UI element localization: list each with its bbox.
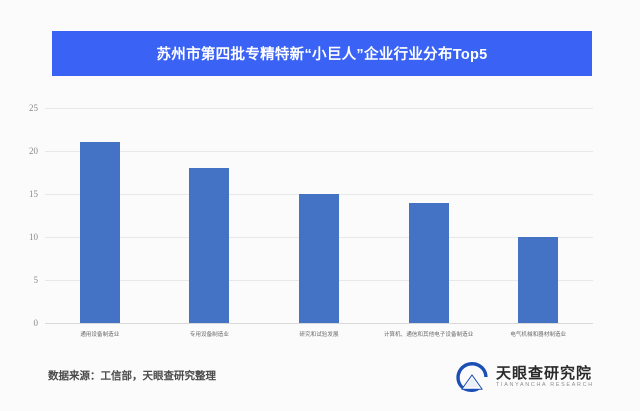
y-axis-tick-label: 15 xyxy=(29,189,38,199)
plot-area: 0510152025通用设备制造业专用设备制造业研究和试验发展计算机、通信和其他… xyxy=(45,108,593,323)
source-note: 数据来源：工信部，天眼查研究整理 xyxy=(48,368,216,383)
x-axis-category-label: 专用设备制造业 xyxy=(190,330,229,338)
y-axis-tick-label: 0 xyxy=(34,318,39,328)
y-axis-tick-label: 5 xyxy=(34,275,39,285)
gridline: 25 xyxy=(45,108,593,109)
logo-text-block: 天眼查研究院 TIANYANCHA RESEARCH xyxy=(496,366,594,388)
y-axis-tick-label: 10 xyxy=(29,232,38,242)
axis-baseline: 0 xyxy=(45,323,593,324)
logo-subtitle: TIANYANCHA RESEARCH xyxy=(496,383,594,388)
x-axis-category-label: 计算机、通信和其他电子设备制造业 xyxy=(384,330,474,338)
bar xyxy=(80,142,120,323)
bar xyxy=(189,168,229,323)
bar xyxy=(518,237,558,323)
page-title: 苏州市第四批专精特新“小巨人”企业行业分布Top5 xyxy=(156,43,487,64)
bar xyxy=(299,194,339,323)
logo-title: 天眼查研究院 xyxy=(496,366,594,381)
chart-title-banner: 苏州市第四批专精特新“小巨人”企业行业分布Top5 xyxy=(52,31,592,76)
x-axis-category-label: 通用设备制造业 xyxy=(80,330,119,338)
x-axis-category-label: 电气机械和器材制造业 xyxy=(510,330,566,338)
x-axis-category-label: 研究和试验发展 xyxy=(299,330,338,338)
bar xyxy=(409,203,449,323)
y-axis-tick-label: 20 xyxy=(29,146,38,156)
chart-page: 苏州市第四批专精特新“小巨人”企业行业分布Top5 0510152025通用设备… xyxy=(0,0,640,411)
brand-logo: 天眼查研究院 TIANYANCHA RESEARCH xyxy=(455,357,595,397)
y-axis-tick-label: 25 xyxy=(29,103,38,113)
gridline: 20 xyxy=(45,151,593,152)
tianyancha-eye-icon xyxy=(455,360,489,394)
